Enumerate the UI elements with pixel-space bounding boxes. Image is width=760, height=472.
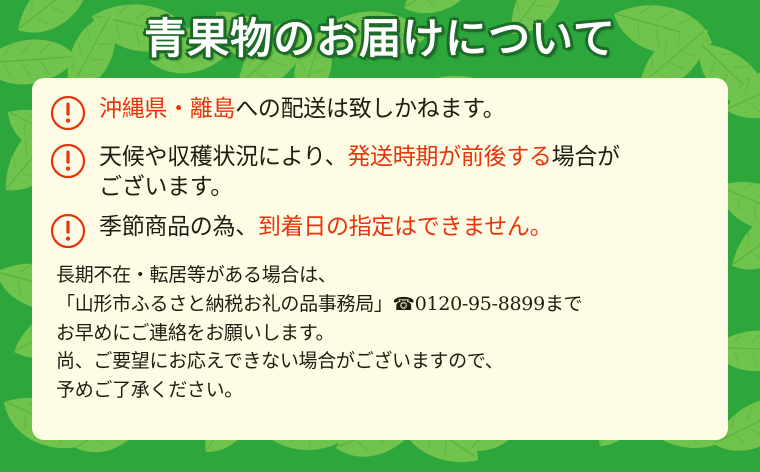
notice-highlight: 沖縄県・離島 [99, 96, 235, 122]
telephone-icon: ☎ [393, 294, 415, 315]
notice-highlight: 到着日の指定はできません。 [258, 214, 552, 240]
exclamation-circle-icon [50, 213, 86, 249]
notice-highlight: 発送時期が前後する [347, 144, 551, 170]
footnote-line-3: お早めにご連絡をお願いします。 [56, 319, 710, 348]
office-name: 「山形市ふるさと納税お礼の品事務局」 [56, 293, 393, 315]
notice-plain: 季節商品の為、 [99, 214, 258, 240]
notice-item: 天候や収穫状況により、発送時期が前後する場合がございます。 [50, 142, 710, 203]
footnote-line-5: 予めご了承ください。 [56, 376, 710, 405]
footnote-line-1: 長期不在・転居等がある場合は、 [56, 261, 710, 290]
notice-card: 沖縄県・離島への配送は致しかねます。 天候や収穫状況により、発送時期が前後する場… [32, 78, 728, 440]
footnote-line-2: 「山形市ふるさと納税お礼の品事務局」☎0120-95-8899まで [56, 290, 710, 319]
notice-text: 沖縄県・離島への配送は致しかねます。 [99, 94, 505, 125]
notice-plain: への配送は致しかねます。 [235, 96, 505, 122]
notice-plain: ございます。 [99, 174, 233, 200]
notice-plain: 場合が [552, 144, 620, 170]
exclamation-circle-icon [50, 95, 86, 131]
notice-list: 沖縄県・離島への配送は致しかねます。 天候や収穫状況により、発送時期が前後する場… [50, 94, 710, 249]
footnote-paragraph: 長期不在・転居等がある場合は、 「山形市ふるさと納税お礼の品事務局」☎0120-… [56, 261, 710, 405]
footnote-line-2-suffix: まで [545, 293, 582, 315]
notice-text: 天候や収穫状況により、発送時期が前後する場合がございます。 [99, 142, 620, 203]
footnote-line-4: 尚、ご要望にお応えできない場合がございますので、 [56, 347, 710, 376]
notice-item: 沖縄県・離島への配送は致しかねます。 [50, 94, 710, 131]
phone-number: 0120-95-8899 [415, 293, 545, 315]
notice-item: 季節商品の為、到着日の指定はできません。 [50, 212, 710, 249]
page-title: 青果物のお届けについて [144, 18, 616, 60]
exclamation-circle-icon [50, 143, 86, 179]
banner: 青果物のお届けについて [0, 0, 760, 78]
notice-text: 季節商品の為、到着日の指定はできません。 [99, 212, 552, 243]
notice-plain: 天候や収穫状況により、 [99, 144, 347, 170]
